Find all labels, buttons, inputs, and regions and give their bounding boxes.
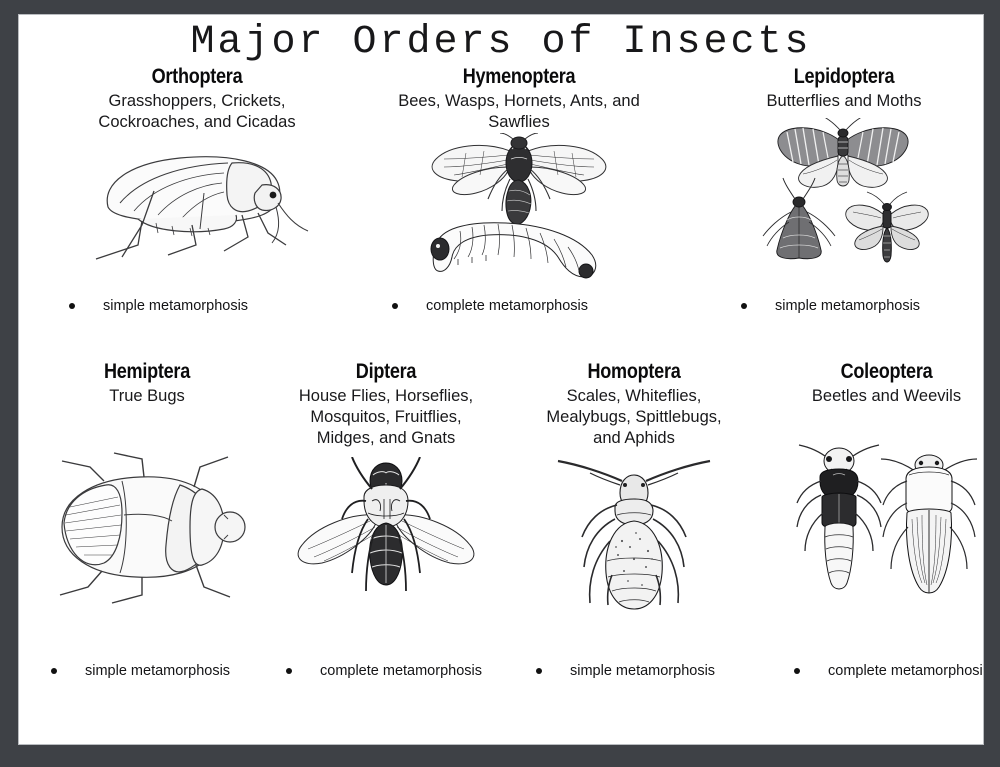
order-desc-homoptera: Scales, Whiteflies, Mealybugs, Spittlebu… <box>509 386 759 449</box>
bullet-icon <box>392 303 398 309</box>
order-desc-line: True Bugs <box>31 386 263 407</box>
bullet-icon <box>51 668 57 674</box>
page-title: Major Orders of Insects <box>19 15 983 64</box>
bullet-icon <box>69 303 75 309</box>
metamorphosis-label: complete metamorphosis <box>828 663 984 679</box>
bullet-icon <box>536 668 542 674</box>
metamorphosis-coleoptera: complete metamorphosis <box>794 663 984 679</box>
order-desc-line: and Aphids <box>513 428 755 449</box>
order-desc-line: Midges, and Gnats <box>275 428 497 449</box>
poster-page: Major Orders of Insects Orthoptera Grass… <box>18 14 984 745</box>
order-desc-hemiptera: True Bugs <box>27 386 267 407</box>
order-card-lepidoptera: Lepidoptera Butterflies and Moths <box>684 65 984 270</box>
order-desc-lepidoptera: Butterflies and Moths <box>684 91 984 112</box>
illustration-house-fly <box>271 457 501 619</box>
order-name-orthoptera: Orthoptera <box>59 65 334 88</box>
order-name-hymenoptera: Hymenoptera <box>381 65 656 88</box>
order-desc-orthoptera: Grasshoppers, Crickets, Cockroaches, and… <box>37 91 357 133</box>
metamorphosis-homoptera: simple metamorphosis <box>536 663 715 679</box>
order-desc-line: Butterflies and Moths <box>688 91 984 112</box>
orders-row-2: Hemiptera True Bugs <box>19 360 983 695</box>
metamorphosis-label: complete metamorphosis <box>426 298 588 314</box>
order-desc-hymenoptera: Bees, Wasps, Hornets, Ants, and Sawflies <box>359 91 679 133</box>
order-name-homoptera: Homoptera <box>527 360 742 383</box>
order-card-homoptera: Homoptera Scales, Whiteflies, Mealybugs,… <box>509 360 759 620</box>
order-name-diptera: Diptera <box>287 360 485 383</box>
orders-row-1: Orthoptera Grasshoppers, Crickets, Cockr… <box>19 65 983 320</box>
order-desc-line: Sawflies <box>363 112 675 133</box>
illustration-sawfly <box>359 133 679 283</box>
metamorphosis-label: simple metamorphosis <box>85 663 230 679</box>
metamorphosis-lepidoptera: simple metamorphosis <box>741 298 920 314</box>
order-desc-line: Scales, Whiteflies, <box>513 386 755 407</box>
order-desc-line: Beetles and Weevils <box>768 386 984 407</box>
order-name-coleoptera: Coleoptera <box>781 360 984 383</box>
metamorphosis-label: simple metamorphosis <box>775 298 920 314</box>
order-name-lepidoptera: Lepidoptera <box>706 65 981 88</box>
bullet-icon <box>741 303 747 309</box>
order-card-coleoptera: Coleoptera Beetles and Weevils <box>764 360 984 609</box>
bullet-icon <box>794 668 800 674</box>
order-desc-line: House Flies, Horseflies, <box>275 386 497 407</box>
metamorphosis-hemiptera: simple metamorphosis <box>51 663 230 679</box>
metamorphosis-label: complete metamorphosis <box>320 663 482 679</box>
metamorphosis-orthoptera: simple metamorphosis <box>69 298 248 314</box>
order-name-hemiptera: Hemiptera <box>44 360 250 383</box>
illustration-aphid <box>509 455 759 620</box>
bullet-icon <box>286 668 292 674</box>
order-card-hymenoptera: Hymenoptera Bees, Wasps, Hornets, Ants, … <box>359 65 679 283</box>
order-card-diptera: Diptera House Flies, Horseflies, Mosquit… <box>271 360 501 619</box>
order-card-hemiptera: Hemiptera True Bugs <box>27 360 267 610</box>
metamorphosis-label: simple metamorphosis <box>103 298 248 314</box>
metamorphosis-diptera: complete metamorphosis <box>286 663 482 679</box>
order-desc-line: Bees, Wasps, Hornets, Ants, and <box>363 91 675 112</box>
metamorphosis-hymenoptera: complete metamorphosis <box>392 298 588 314</box>
order-desc-line: Grasshoppers, Crickets, <box>41 91 353 112</box>
order-desc-line: Mealybugs, Spittlebugs, <box>513 407 755 428</box>
order-desc-diptera: House Flies, Horseflies, Mosquitos, Frui… <box>271 386 501 449</box>
order-card-orthoptera: Orthoptera Grasshoppers, Crickets, Cockr… <box>37 65 357 265</box>
order-desc-line: Cockroaches, and Cicadas <box>41 112 353 133</box>
order-desc-coleoptera: Beetles and Weevils <box>764 386 984 407</box>
illustration-cockroach <box>37 133 357 265</box>
poster-frame: Major Orders of Insects Orthoptera Grass… <box>0 0 1000 767</box>
illustration-stink-bug <box>27 445 267 610</box>
illustration-beetles <box>764 441 984 609</box>
illustration-moths <box>684 118 984 270</box>
metamorphosis-label: simple metamorphosis <box>570 663 715 679</box>
order-desc-line: Mosquitos, Fruitflies, <box>275 407 497 428</box>
